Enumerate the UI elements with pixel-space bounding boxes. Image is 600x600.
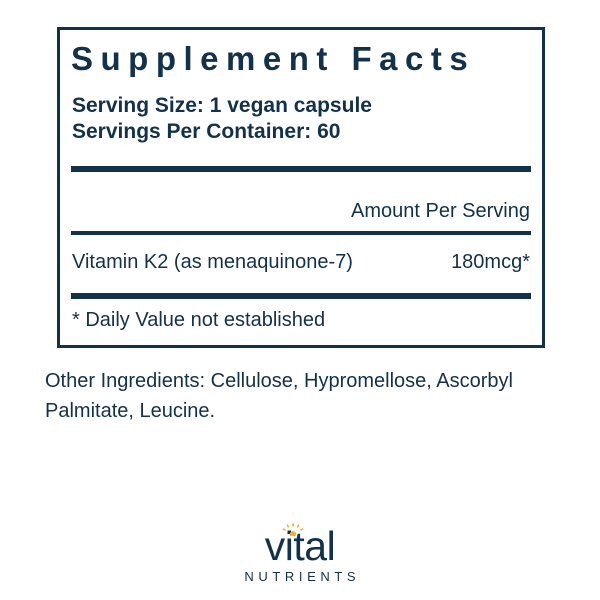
table-row: Vitamin K2 (as menaquinone-7) 180mcg* — [71, 248, 531, 278]
brand-wordmark-text: vital — [265, 523, 335, 569]
nutrient-name: Vitamin K2 (as menaquinone-7) — [72, 248, 353, 276]
amount-per-serving-header: Amount Per Serving — [351, 199, 530, 223]
supplement-facts-content: Supplement Facts Serving Size: 1 vegan c… — [71, 30, 531, 345]
nutrient-amount: 180mcg* — [451, 248, 530, 276]
daily-value-footnote: * Daily Value not established — [72, 307, 325, 333]
divider-thick-bottom — [71, 293, 531, 299]
divider-thin-middle — [71, 231, 531, 235]
servings-per-container-text: Servings Per Container: 60 — [72, 119, 340, 145]
brand-logo-stack: vital NUTRIENTS — [200, 524, 400, 585]
other-ingredients-text: Other Ingredients: Cellulose, Hypromello… — [45, 366, 515, 426]
serving-size-text: Serving Size: 1 vegan capsule — [72, 93, 372, 119]
page-title: Supplement Facts — [71, 39, 531, 79]
supplement-label-page: Supplement Facts Serving Size: 1 vegan c… — [0, 0, 600, 600]
brand-subtitle: NUTRIENTS — [200, 569, 400, 585]
divider-thick-top — [71, 166, 531, 172]
supplement-facts-panel: Supplement Facts Serving Size: 1 vegan c… — [57, 27, 545, 348]
brand-logo: vital NUTRIENTS — [0, 524, 600, 586]
brand-wordmark: vital — [265, 524, 335, 568]
